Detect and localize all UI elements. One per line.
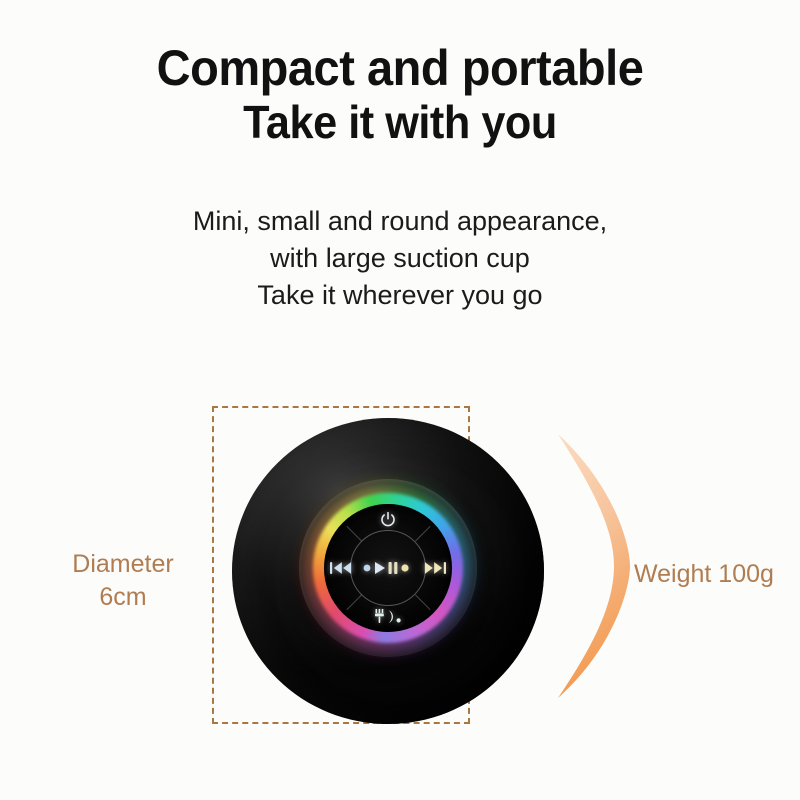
weight-annotation: Weight 100g — [634, 558, 774, 591]
diameter-value: 6cm — [38, 581, 208, 614]
headline-line-2: Take it with you — [24, 96, 776, 148]
subtitle-line-2: with large suction cup — [0, 240, 800, 277]
subtitle-line-3: Take it wherever you go — [0, 277, 800, 314]
play-pause-button[interactable] — [363, 561, 413, 575]
diameter-label: Diameter — [38, 548, 208, 581]
lamp-night-icon — [371, 608, 405, 626]
headline-line-1: Compact and portable — [24, 40, 776, 96]
subtitle-line-1: Mini, small and round appearance, — [0, 203, 800, 240]
light-mode-button[interactable] — [371, 608, 405, 626]
bluetooth-speaker — [232, 418, 544, 724]
subtitle: Mini, small and round appearance, with l… — [0, 203, 800, 314]
product-stage: Diameter 6cm Weight 100g — [0, 380, 800, 780]
power-icon — [378, 510, 398, 530]
power-button[interactable] — [378, 510, 398, 530]
diameter-annotation: Diameter 6cm — [38, 548, 208, 614]
control-panel[interactable] — [313, 493, 463, 643]
weight-arc-bracket — [552, 428, 642, 704]
next-track-button[interactable] — [424, 559, 446, 577]
headline: Compact and portable Take it with you — [0, 40, 800, 148]
previous-track-button[interactable] — [330, 559, 352, 577]
play-pause-icon — [363, 561, 413, 575]
previous-track-icon — [330, 560, 352, 576]
next-track-icon — [424, 560, 446, 576]
